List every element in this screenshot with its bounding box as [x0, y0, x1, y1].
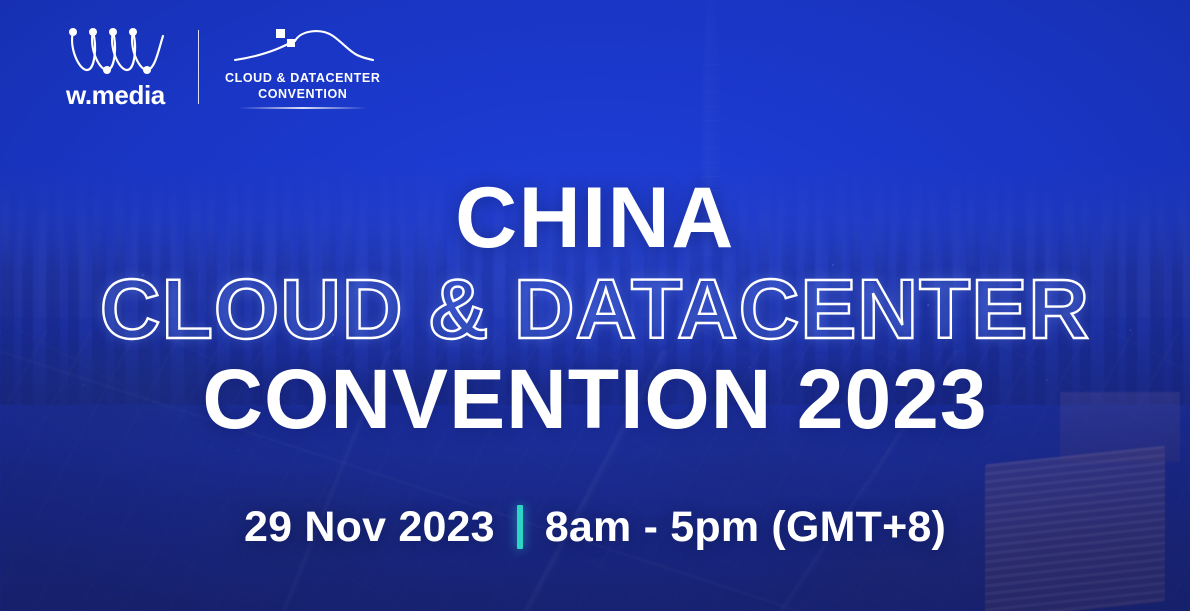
vertical-bar-icon [517, 505, 523, 549]
headline-line-topic: CLOUD & DATACENTER [0, 267, 1190, 351]
convention-logo-line2: CONVENTION [225, 87, 380, 103]
convention-logo-rule [239, 107, 367, 109]
event-time: 8am - 5pm (GMT+8) [545, 506, 946, 549]
logo-lockup[interactable]: w.media CLOUD & DATACENTER CONVENTION [66, 26, 380, 109]
event-headline: CHINA CLOUD & DATACENTER CONVENTION 2023 [0, 175, 1190, 441]
event-details-bar: 29 Nov 2023 8am - 5pm (GMT+8) [0, 505, 1190, 549]
convention-logo[interactable]: CLOUD & DATACENTER CONVENTION [225, 26, 380, 109]
vertical-divider-icon [198, 30, 199, 104]
headline-line-country: CHINA [0, 175, 1190, 261]
event-date: 29 Nov 2023 [244, 506, 495, 549]
headline-line-convention-year: CONVENTION 2023 [0, 357, 1190, 441]
convention-logo-line1: CLOUD & DATACENTER [225, 71, 380, 87]
event-banner: w.media CLOUD & DATACENTER CONVENTION CH… [0, 0, 1190, 611]
wmedia-wordmark: w.media [66, 82, 176, 108]
wmedia-logo[interactable]: w.media [66, 26, 176, 108]
cloud-dome-icon [229, 26, 377, 66]
wave-zigzag-icon [66, 26, 170, 78]
